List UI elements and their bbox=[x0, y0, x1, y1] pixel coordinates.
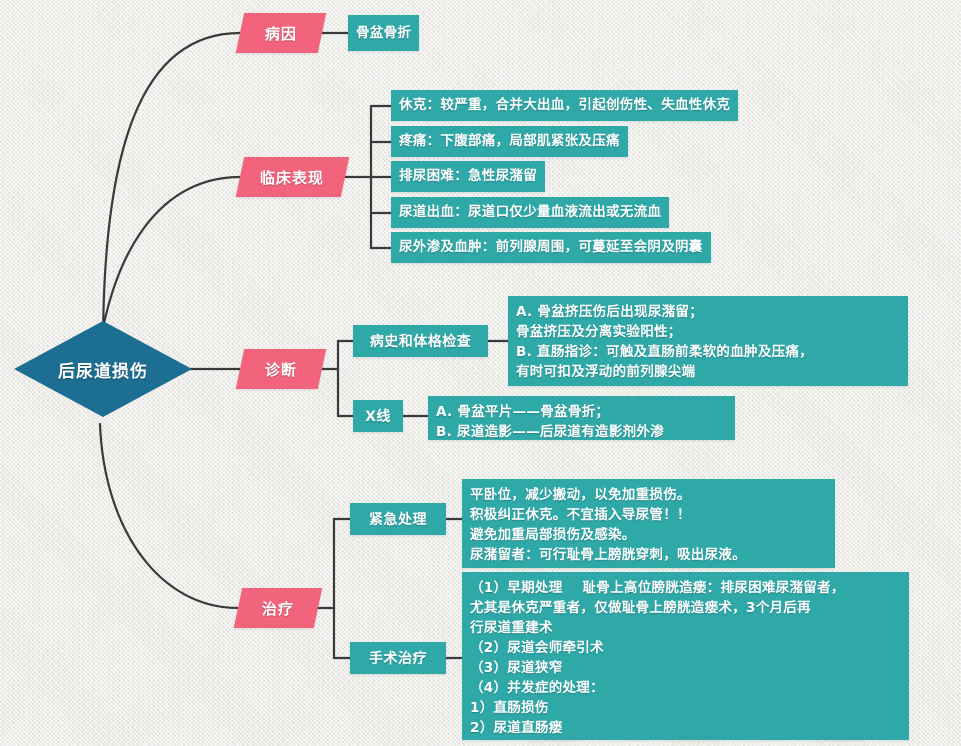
connector-root-cause bbox=[103, 33, 240, 348]
leaf-clinical-4[interactable]: 尿道出血：尿道口仅少量血液流出或无流血 bbox=[391, 197, 669, 228]
leaf-clinical-4-text: 尿道出血：尿道口仅少量血液流出或无流血 bbox=[399, 203, 661, 221]
sublabel-emergency-text: 紧急处理 bbox=[369, 509, 427, 529]
branch-cause[interactable]: 病因 bbox=[236, 13, 327, 53]
branch-treatment-label: 治疗 bbox=[262, 598, 294, 619]
leaf-clinical-2[interactable]: 疼痛：下腹部痛，局部肌紧张及压痛 bbox=[391, 126, 628, 157]
leaf-history-exam-detail-text: A. 骨盆挤压伤后出现尿潴留； 骨盆挤压及分离实验阳性； B. 直肠指诊：可触及… bbox=[516, 302, 813, 382]
leaf-surgery-detail[interactable]: （1）早期处理 耻骨上高位膀胱造瘘：排尿困难尿潴留者， 尤其是休克严重者，仅做耻… bbox=[462, 572, 909, 740]
leaf-xray-detail-text: A. 骨盆平片——骨盆骨折； B. 尿道造影——后尿道有造影剂外渗 bbox=[436, 402, 664, 442]
leaf-clinical-3[interactable]: 排尿困难：急性尿潴留 bbox=[391, 161, 545, 192]
branch-diagnosis-label: 诊断 bbox=[265, 359, 297, 380]
leaf-cause-1[interactable]: 骨盆骨折 bbox=[348, 15, 419, 51]
branch-treatment[interactable]: 治疗 bbox=[234, 588, 323, 628]
sublabel-xray-text: X线 bbox=[365, 406, 391, 426]
leaf-xray-detail[interactable]: A. 骨盆平片——骨盆骨折； B. 尿道造影——后尿道有造影剂外渗 bbox=[428, 396, 735, 440]
root-label: 后尿道损伤 bbox=[58, 357, 148, 382]
leaf-cause-1-text: 骨盆骨折 bbox=[356, 24, 411, 42]
leaf-clinical-1[interactable]: 休克：较严重，合并大出血，引起创伤性、失血性休克 bbox=[391, 90, 738, 121]
connector-root-clinical bbox=[99, 177, 240, 352]
sublabel-history-exam-text: 病史和体格检查 bbox=[370, 331, 472, 351]
leaf-history-exam-detail[interactable]: A. 骨盆挤压伤后出现尿潴留； 骨盆挤压及分离实验阳性； B. 直肠指诊：可触及… bbox=[508, 296, 908, 386]
sublabel-emergency[interactable]: 紧急处理 bbox=[350, 503, 446, 535]
branch-diagnosis[interactable]: 诊断 bbox=[236, 349, 327, 389]
branch-cause-label: 病因 bbox=[265, 23, 297, 44]
leaf-clinical-5[interactable]: 尿外渗及血肿：前列腺周围，可蔓延至会阴及阴囊 bbox=[391, 232, 711, 263]
mindmap-canvas: 后尿道损伤 病因 骨盆骨折 临床表现 休克：较严重，合并大出血，引起创伤性、失血… bbox=[0, 0, 961, 746]
branch-clinical-label: 临床表现 bbox=[260, 167, 324, 188]
leaf-surgery-detail-text: （1）早期处理 耻骨上高位膀胱造瘘：排尿困难尿潴留者， 尤其是休克严重者，仅做耻… bbox=[470, 578, 845, 738]
branch-clinical[interactable]: 临床表现 bbox=[236, 157, 350, 197]
sublabel-xray[interactable]: X线 bbox=[353, 400, 403, 432]
sublabel-surgery-text: 手术治疗 bbox=[369, 648, 427, 668]
leaf-clinical-3-text: 排尿困难：急性尿潴留 bbox=[399, 167, 537, 185]
leaf-clinical-5-text: 尿外渗及血肿：前列腺周围，可蔓延至会阴及阴囊 bbox=[399, 238, 703, 256]
sublabel-history-exam[interactable]: 病史和体格检查 bbox=[353, 325, 488, 357]
sublabel-surgery[interactable]: 手术治疗 bbox=[350, 642, 446, 674]
root-node[interactable]: 后尿道损伤 bbox=[14, 321, 192, 417]
leaf-emergency-detail-text: 平卧位，减少搬动，以免加重损伤。 积极纠正休克。不宜插入导尿管！！ 避免加重局部… bbox=[470, 485, 746, 565]
leaf-emergency-detail[interactable]: 平卧位，减少搬动，以免加重损伤。 积极纠正休克。不宜插入导尿管！！ 避免加重局部… bbox=[462, 479, 835, 568]
leaf-clinical-2-text: 疼痛：下腹部痛，局部肌紧张及压痛 bbox=[399, 132, 620, 150]
connector-root-treatment bbox=[100, 424, 238, 608]
leaf-clinical-1-text: 休克：较严重，合并大出血，引起创伤性、失血性休克 bbox=[399, 96, 730, 114]
